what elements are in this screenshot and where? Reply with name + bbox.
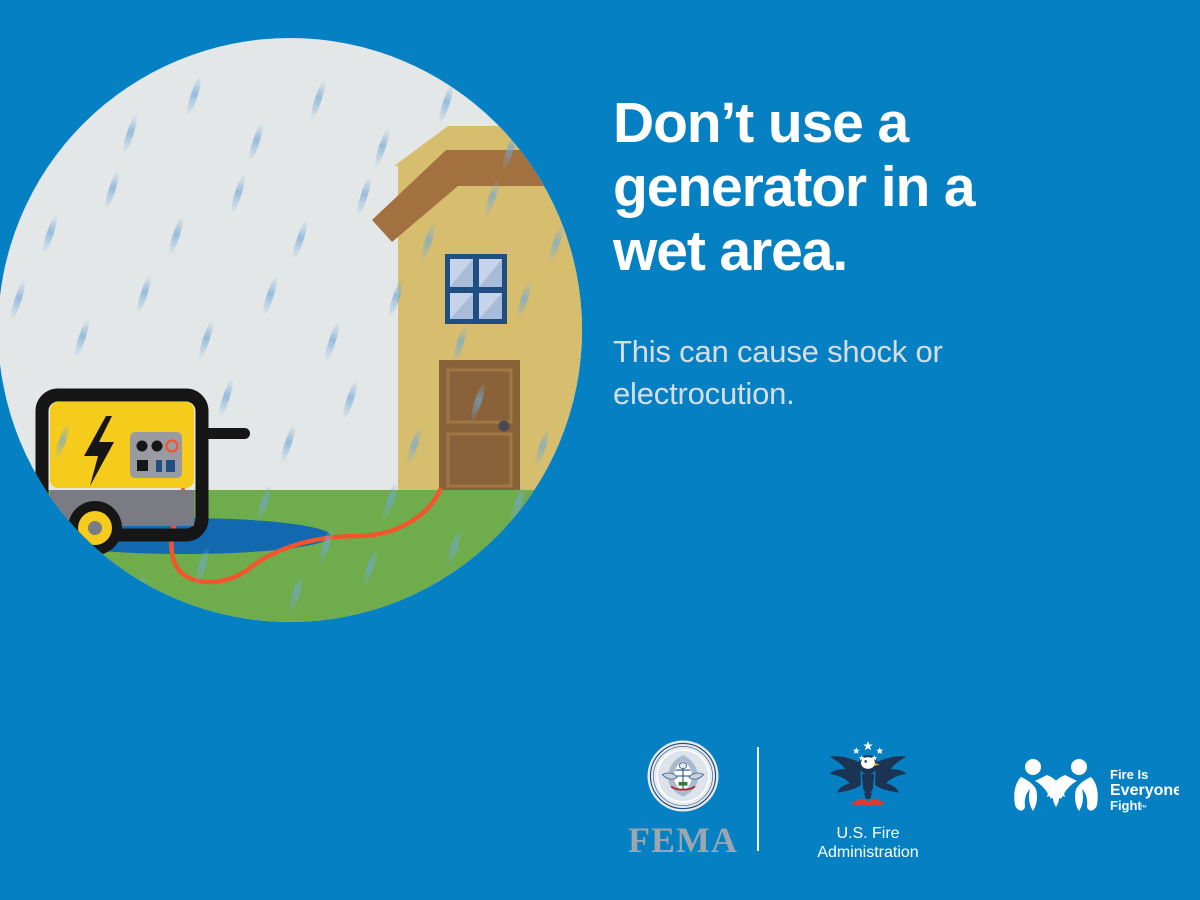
page-title: Don’t use a generator in a wet area.	[613, 92, 1133, 283]
panel-switch	[137, 460, 148, 471]
panel-socket-1	[137, 441, 148, 452]
generator-control-panel	[130, 432, 182, 478]
illustration-generator-in-rain	[0, 38, 602, 622]
door-knob-icon	[499, 421, 510, 432]
generator-wheel	[68, 501, 122, 555]
house-window	[445, 254, 507, 324]
poster-canvas: Don’t use a generator in a wet area. Thi…	[0, 0, 1200, 900]
dhs-seal-icon	[646, 739, 720, 813]
scene-clipped-group	[0, 38, 602, 622]
usfa-wordmark: U.S. Fire Administration	[798, 825, 938, 863]
fire-is-everyones-fight-logo: Fire Is Everyone’s Fight ™	[1005, 755, 1180, 822]
footer-logo-row: FEMA	[600, 735, 1180, 865]
house-door	[439, 360, 520, 490]
usfa-logo: U.S. Fire Administration	[798, 739, 938, 863]
panel-socket-2	[152, 441, 163, 452]
fema-logo: FEMA	[618, 739, 748, 858]
page-subtitle: This can cause shock or electrocution.	[613, 331, 1133, 413]
logo-divider	[757, 747, 759, 851]
usfa-eagle-icon	[825, 739, 911, 815]
house	[372, 126, 602, 490]
fief-line-2: Everyone’s	[1110, 782, 1179, 799]
fief-emblem-icon: Fire Is Everyone’s Fight ™	[1007, 755, 1179, 817]
fief-line-1: Fire Is	[1110, 767, 1148, 782]
fief-line-3: Fight	[1110, 798, 1142, 813]
copy-block: Don’t use a generator in a wet area. Thi…	[613, 92, 1133, 414]
fief-trademark: ™	[1140, 805, 1147, 812]
panel-socket-plugged	[167, 441, 178, 452]
fema-wordmark: FEMA	[618, 822, 748, 858]
